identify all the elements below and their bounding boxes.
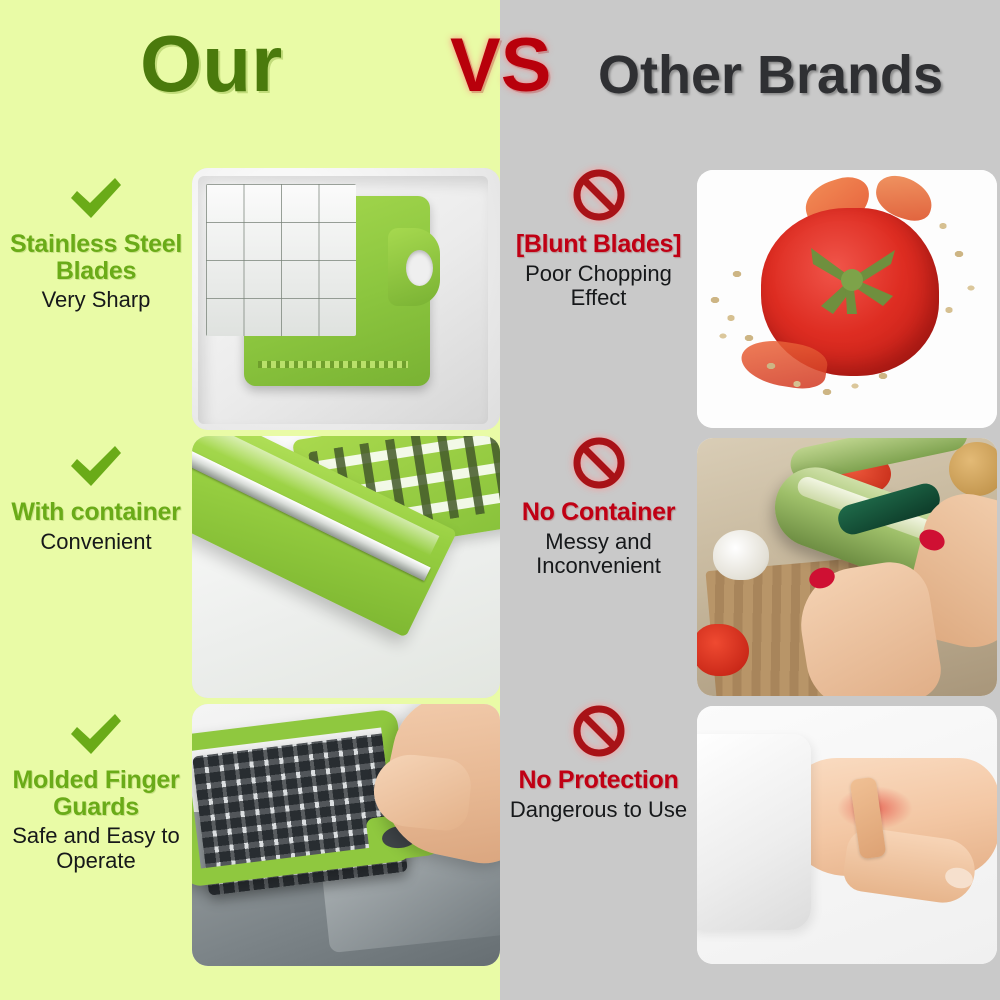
right-feature-3-title: No Protection xyxy=(500,767,697,794)
comparison-row-1: Stainless Steel Blades Very Sharp [ xyxy=(0,166,1000,434)
left-feature-3-title: Molded Finger Guards xyxy=(0,767,192,820)
right-feature-3-subtitle: Dangerous to Use xyxy=(500,798,697,823)
right-feature-2-caption: No Container Messy and Inconvenient xyxy=(500,434,697,579)
left-feature-2-subtitle: Convenient xyxy=(0,530,192,555)
poster-header: Our VS Other Brands xyxy=(0,0,1000,140)
header-vs-label: VS xyxy=(450,28,551,104)
right-feature-3-caption: No Protection Dangerous to Use xyxy=(500,702,697,822)
right-feature-2-title: No Container xyxy=(500,499,697,526)
left-feature-1-caption: Stainless Steel Blades Very Sharp xyxy=(0,166,192,313)
header-other-brands-label: Other Brands xyxy=(598,48,943,102)
right-feature-2-photo xyxy=(697,438,997,696)
right-feature-2-subtitle: Messy and Inconvenient xyxy=(500,530,697,579)
right-feature-1-badge xyxy=(500,166,697,222)
left-feature-3-photo xyxy=(192,704,500,966)
right-feature-1-subtitle: Poor Chopping Effect xyxy=(500,262,697,311)
left-feature-1-photo xyxy=(192,168,500,430)
prohibition-icon xyxy=(572,436,626,490)
left-feature-3-caption: Molded Finger Guards Safe and Easy to Op… xyxy=(0,702,192,873)
left-feature-1-badge xyxy=(0,166,192,222)
comparison-row-3: Molded Finger Guards Safe and Easy to Op… xyxy=(0,702,1000,970)
left-feature-3-badge xyxy=(0,702,192,758)
left-feature-2-caption: With container Convenient xyxy=(0,434,192,554)
comparison-poster: Our VS Other Brands Stainless Steel Blad… xyxy=(0,0,1000,1000)
prohibition-icon xyxy=(572,168,626,222)
right-feature-3-photo xyxy=(697,706,997,964)
left-feature-1-subtitle: Very Sharp xyxy=(0,288,192,313)
left-feature-2-photo xyxy=(192,436,500,698)
left-feature-1-title: Stainless Steel Blades xyxy=(0,231,192,284)
comparison-row-2: With container Convenient No Container xyxy=(0,434,1000,702)
left-feature-2-badge xyxy=(0,434,192,490)
check-icon xyxy=(68,712,124,758)
right-feature-1-caption: [Blunt Blades] Poor Chopping Effect xyxy=(500,166,697,311)
check-icon xyxy=(68,176,124,222)
header-our-label: Our xyxy=(140,24,282,104)
left-feature-3-subtitle: Safe and Easy to Operate xyxy=(0,824,192,873)
left-feature-2-title: With container xyxy=(0,499,192,526)
prohibition-icon xyxy=(572,704,626,758)
right-feature-1-title: [Blunt Blades] xyxy=(500,231,697,258)
right-feature-2-badge xyxy=(500,434,697,490)
right-feature-1-photo xyxy=(697,170,997,428)
check-icon xyxy=(68,444,124,490)
right-feature-3-badge xyxy=(500,702,697,758)
